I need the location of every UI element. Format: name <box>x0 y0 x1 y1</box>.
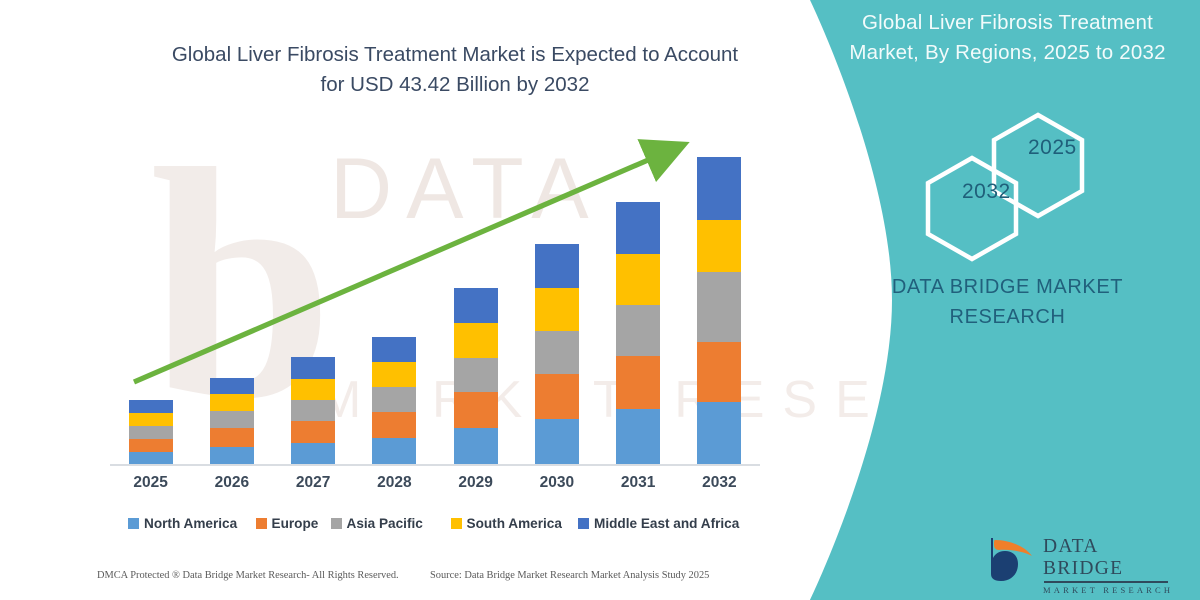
logo-word-primary: DATA BRIDGE <box>1043 536 1180 580</box>
legend-swatch-icon <box>128 518 139 529</box>
bar-segment-2025-asia-pacific[interactable] <box>129 426 173 439</box>
bar-segment-2026-europe[interactable] <box>210 428 254 447</box>
logo-divider <box>1044 581 1168 583</box>
infographic-canvas: b DATA MARKET RESEARCH Global Liver Fibr… <box>0 0 1200 600</box>
x-axis-label-2026: 2026 <box>192 474 272 492</box>
bar-segment-2025-south-america[interactable] <box>129 413 173 426</box>
x-axis-label-2030: 2030 <box>517 474 597 492</box>
bar-segment-2026-north-america[interactable] <box>210 447 254 465</box>
footer-copyright: DMCA Protected ® Data Bridge Market Rese… <box>97 570 399 581</box>
chart-title-line-2: for USD 43.42 Billion by 2032 <box>105 70 805 100</box>
bar-segment-2025-europe[interactable] <box>129 439 173 452</box>
x-axis-label-2025: 2025 <box>111 474 191 492</box>
legend-item-asia-pacific[interactable]: Asia Pacific <box>331 513 423 533</box>
x-axis-label-2031: 2031 <box>598 474 678 492</box>
chart-title: Global Liver Fibrosis Treatment Market i… <box>105 40 805 100</box>
legend-label: Middle East and Africa <box>594 516 739 531</box>
legend-swatch-icon <box>578 518 589 529</box>
hexagon-2032-label: 2032 <box>962 180 1011 204</box>
x-axis-label-2028: 2028 <box>354 474 434 492</box>
legend-item-middle-east-and-africa[interactable]: Middle East and Africa <box>578 513 739 533</box>
data-bridge-b-logo-icon <box>985 534 1037 582</box>
x-axis-line <box>110 464 760 466</box>
right-branding-panel: Global Liver Fibrosis Treatment Market, … <box>780 0 1200 600</box>
bar-segment-2032-north-america[interactable] <box>697 402 741 465</box>
panel-brand-name: DATA BRIDGE MARKET RESEARCH <box>835 272 1180 332</box>
x-axis-label-2029: 2029 <box>436 474 516 492</box>
chart-legend: North AmericaEuropeAsia PacificSouth Ame… <box>110 513 760 535</box>
legend-swatch-icon <box>256 518 267 529</box>
bar-segment-2028-north-america[interactable] <box>372 438 416 465</box>
bar-segment-2028-europe[interactable] <box>372 412 416 438</box>
legend-label: North America <box>144 516 237 531</box>
hexagon-2025-label: 2025 <box>1028 136 1077 160</box>
bar-segment-2027-north-america[interactable] <box>291 443 335 465</box>
bar-segment-2031-north-america[interactable] <box>616 409 660 465</box>
data-bridge-logo: DATA BRIDGE MARKET RESEARCH <box>985 532 1180 584</box>
legend-item-europe[interactable]: Europe <box>256 513 319 533</box>
panel-brand-line-2: RESEARCH <box>835 302 1180 332</box>
legend-label: South America <box>467 516 562 531</box>
legend-item-south-america[interactable]: South America <box>451 513 562 533</box>
panel-brand-line-1: DATA BRIDGE MARKET <box>835 272 1180 302</box>
legend-label: Europe <box>272 516 319 531</box>
x-axis-label-2032: 2032 <box>679 474 759 492</box>
bar-segment-2029-north-america[interactable] <box>454 428 498 465</box>
bar-segment-2030-north-america[interactable] <box>535 419 579 465</box>
chart-title-line-1: Global Liver Fibrosis Treatment Market i… <box>105 40 805 70</box>
legend-label: Asia Pacific <box>347 516 423 531</box>
bar-segment-2026-asia-pacific[interactable] <box>210 411 254 428</box>
legend-item-north-america[interactable]: North America <box>128 513 237 533</box>
footer-source: Source: Data Bridge Market Research Mark… <box>430 570 709 581</box>
hexagon-2032 <box>928 158 1016 259</box>
x-axis-labels: 20252026202720282029203020312032 <box>110 474 760 498</box>
logo-word-secondary: MARKET RESEARCH <box>1043 585 1180 595</box>
x-axis-label-2027: 2027 <box>273 474 353 492</box>
legend-swatch-icon <box>331 518 342 529</box>
legend-swatch-icon <box>451 518 462 529</box>
bar-segment-2027-europe[interactable] <box>291 421 335 443</box>
growth-arrow-icon <box>110 130 730 410</box>
